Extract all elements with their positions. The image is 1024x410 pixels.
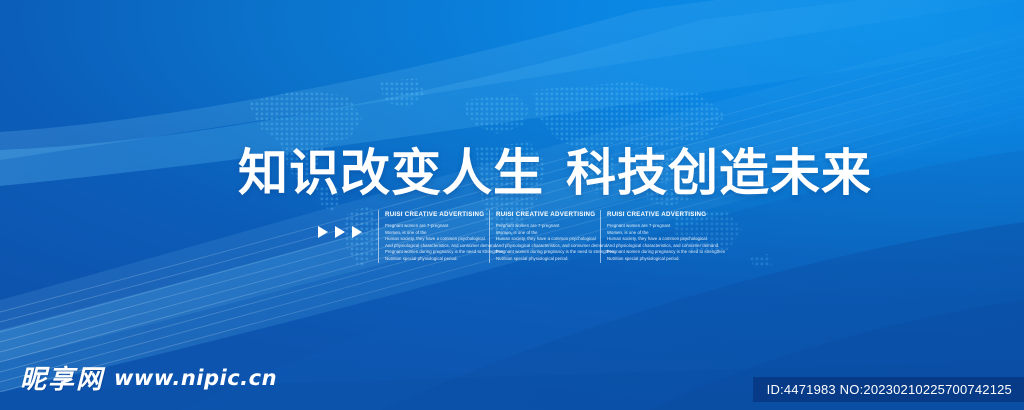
body-line: Pregnant women during pregnancy is the n…	[496, 249, 600, 256]
play-triangle-icon	[318, 226, 328, 238]
body-line: Human society, they have a common psycho…	[496, 236, 600, 243]
body-line: Human society, they have a common psycho…	[607, 236, 711, 243]
page-title: 知识改变人生科技创造未来	[238, 145, 872, 201]
column-title: RUISI CREATIVE ADVERTISING	[385, 210, 489, 219]
column-title: RUISI CREATIVE ADVERTISING	[496, 210, 600, 219]
column-body: Pregnant women are 7-pregnant Women, is …	[607, 223, 711, 263]
body-line: And physiological characteristics, and c…	[496, 243, 600, 250]
body-line: Nutrition special physiological period.	[385, 256, 489, 263]
play-triangle-icon	[352, 226, 362, 238]
body-line: Women, is one of the	[607, 230, 711, 237]
body-line: Nutrition special physiological period.	[496, 256, 600, 263]
body-line: Human society, they have a common psycho…	[385, 236, 489, 243]
body-line: Nutrition special physiological period.	[607, 256, 711, 263]
column-body: Pregnant women are 7-pregnant Women, is …	[385, 223, 489, 263]
ribbon-curves	[0, 0, 1024, 410]
headline-right: 科技创造未来	[566, 144, 872, 202]
body-line: Women, is one of the	[496, 230, 600, 237]
info-column: RUISI CREATIVE ADVERTISING Pregnant wome…	[489, 210, 600, 263]
info-column: RUISI CREATIVE ADVERTISING Pregnant wome…	[378, 210, 489, 263]
arrow-markers	[318, 226, 362, 238]
body-line: Pregnant women are 7-pregnant	[385, 223, 489, 230]
body-line: Pregnant women during pregnancy is the n…	[385, 249, 489, 256]
watermark: 昵享网 www.nipic.cn	[20, 359, 277, 396]
column-title: RUISI CREATIVE ADVERTISING	[607, 210, 711, 219]
headline-left: 知识改变人生	[238, 144, 544, 202]
info-columns: RUISI CREATIVE ADVERTISING Pregnant wome…	[378, 210, 711, 263]
body-line: Women, is one of the	[385, 230, 489, 237]
body-line: Pregnant women are 7-pregnant	[607, 223, 711, 230]
body-line: And physiological characteristics, and c…	[607, 243, 711, 250]
watermark-url: www.nipic.cn	[114, 366, 277, 390]
body-line: And physiological characteristics, and c…	[385, 243, 489, 250]
nipic-logo: 昵享网	[20, 359, 104, 396]
info-column: RUISI CREATIVE ADVERTISING Pregnant wome…	[600, 210, 711, 263]
play-triangle-icon	[335, 226, 345, 238]
body-line: Pregnant women during pregnancy is the n…	[607, 249, 711, 256]
poster-canvas: 知识改变人生科技创造未来 RUISI CREATIVE ADVERTISING …	[0, 0, 1024, 410]
image-id-badge: ID:4471983 NO:20230210225700742125	[753, 377, 1024, 402]
column-body: Pregnant women are 7-pregnant Women, is …	[496, 223, 600, 263]
body-line: Pregnant women are 7-pregnant	[496, 223, 600, 230]
